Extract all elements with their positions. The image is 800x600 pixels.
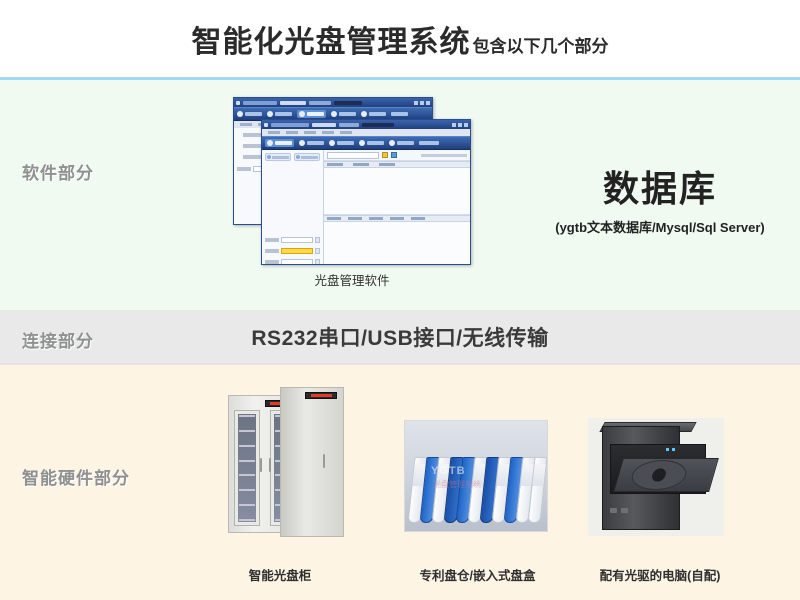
toolbar-button-selected[interactable] [297,110,326,118]
search-bar [324,150,470,161]
page-header: 智能化光盘管理系统 包含以下几个部分 [0,0,800,77]
window-title-extra3 [334,101,362,105]
hardware-caption-computer: 配有光驱的电脑(自配) [580,565,740,584]
refresh-icon[interactable] [391,152,397,158]
title-main-text: 智能化光盘管理系统 [192,17,471,61]
connect-band-text: RS232串口/USB接口/无线传输 [0,322,800,352]
app-icon-front [264,123,268,127]
menu-item-5[interactable] [340,131,352,134]
software-band-label: 软件部分 [22,159,94,184]
column-header[interactable] [348,217,362,220]
window-title-extra [280,101,306,105]
window-title-extra2 [309,101,331,105]
sidebar-field-1[interactable] [265,237,320,243]
app-window-front [261,119,471,265]
watermark-text: YGTB [431,465,466,477]
toolbar-button-config[interactable] [359,140,384,146]
cabinet-handle-left[interactable] [260,458,262,472]
column-header[interactable] [327,163,343,166]
watermark-subtext: 光盘管理系统 [433,479,481,490]
table-body-upper[interactable] [324,168,470,215]
status-text [421,154,467,157]
table-header-upper [324,161,470,168]
minimize-icon[interactable] [414,101,418,105]
window-toolbar-front [262,136,470,150]
sidebar-front [262,150,324,264]
window-body-front [262,150,470,264]
window-titlebar-back [234,98,432,107]
column-header[interactable] [379,163,395,166]
sidebar-tab-2[interactable] [294,153,320,161]
folder-icon[interactable] [382,152,388,158]
toolbar-button-disc-in[interactable] [265,139,294,147]
photo-computer-with-drive [588,418,724,536]
window-title-extra-front [312,123,336,127]
menu-item-2[interactable] [286,131,298,134]
toolbar-button-next[interactable] [267,111,292,117]
page-title: 智能化光盘管理系统 包含以下几个部分 [192,17,609,61]
hardware-caption-trays: 专利盘仓/嵌入式盘盒 [395,565,560,584]
sidebar-field-highlighted[interactable] [265,248,320,254]
photo-smart-disc-cabinet [218,385,348,540]
window-titlebar-front [262,120,470,129]
column-header[interactable] [369,217,383,220]
menu-item-1[interactable] [240,123,252,126]
sidebar-tabs[interactable] [265,153,320,161]
window-title-extra2-front [339,123,359,127]
window-menubar-front[interactable] [262,129,470,136]
toolbar-button-settings[interactable] [331,111,356,117]
toolbar-button-disc-out[interactable] [299,140,324,146]
software-screenshot [233,97,471,265]
app-icon [236,101,240,105]
window-title-extra3-front [362,123,394,127]
poster-root: 智能化光盘管理系统 包含以下几个部分 软件部分 [0,0,800,600]
database-subtitle: (ygtb文本数据库/Mysql/Sql Server) [520,217,800,236]
close-icon[interactable] [426,101,430,105]
window-title-text [243,101,277,105]
cabinet-glass-left [238,414,256,522]
cabinet-led-display-2 [305,392,337,399]
table-header-lower [324,215,470,222]
toolbar-button-disc-query[interactable] [329,140,354,146]
menu-item-4[interactable] [322,131,334,134]
close-icon[interactable] [464,123,468,127]
toolbar-button-device[interactable] [389,140,414,146]
menu-item-1[interactable] [268,131,280,134]
menu-item-3[interactable] [304,131,316,134]
toolbar-button-help[interactable] [391,112,408,116]
sidebar-field-3[interactable] [265,259,320,265]
search-input[interactable] [327,152,379,159]
toolbar-button-exit[interactable] [419,141,439,145]
toolbar-button-prev[interactable] [237,111,262,117]
window-controls-front[interactable] [452,123,468,127]
hardware-band-label: 智能硬件部分 [22,464,130,489]
column-header[interactable] [327,217,341,220]
cabinet-right [280,387,344,537]
content-area-front [324,150,470,264]
cabinet-handle-2[interactable] [323,454,325,468]
toolbar-button-search[interactable] [361,111,386,117]
title-sub-text: 包含以下几个部分 [473,32,609,57]
pc-front-buttons[interactable] [610,508,628,513]
sidebar-tab-1[interactable] [265,153,291,161]
photo-disc-trays: YGTB 光盘管理系统 [404,420,548,532]
maximize-icon[interactable] [420,101,424,105]
column-header[interactable] [353,163,369,166]
window-controls-back[interactable] [414,101,430,105]
column-header[interactable] [390,217,404,220]
table-body-lower[interactable] [324,222,470,264]
window-title-text-front [271,123,309,127]
pc-indicator-leds [666,448,675,451]
maximize-icon[interactable] [458,123,462,127]
database-block: 数据库 (ygtb文本数据库/Mysql/Sql Server) [520,160,800,236]
column-header[interactable] [411,217,425,220]
database-title: 数据库 [520,160,800,212]
hardware-caption-cabinet: 智能光盘柜 [205,565,355,584]
minimize-icon[interactable] [452,123,456,127]
cabinet-door-left [234,410,260,526]
cabinet-handle-right[interactable] [269,458,271,472]
software-caption: 光盘管理软件 [233,270,471,289]
